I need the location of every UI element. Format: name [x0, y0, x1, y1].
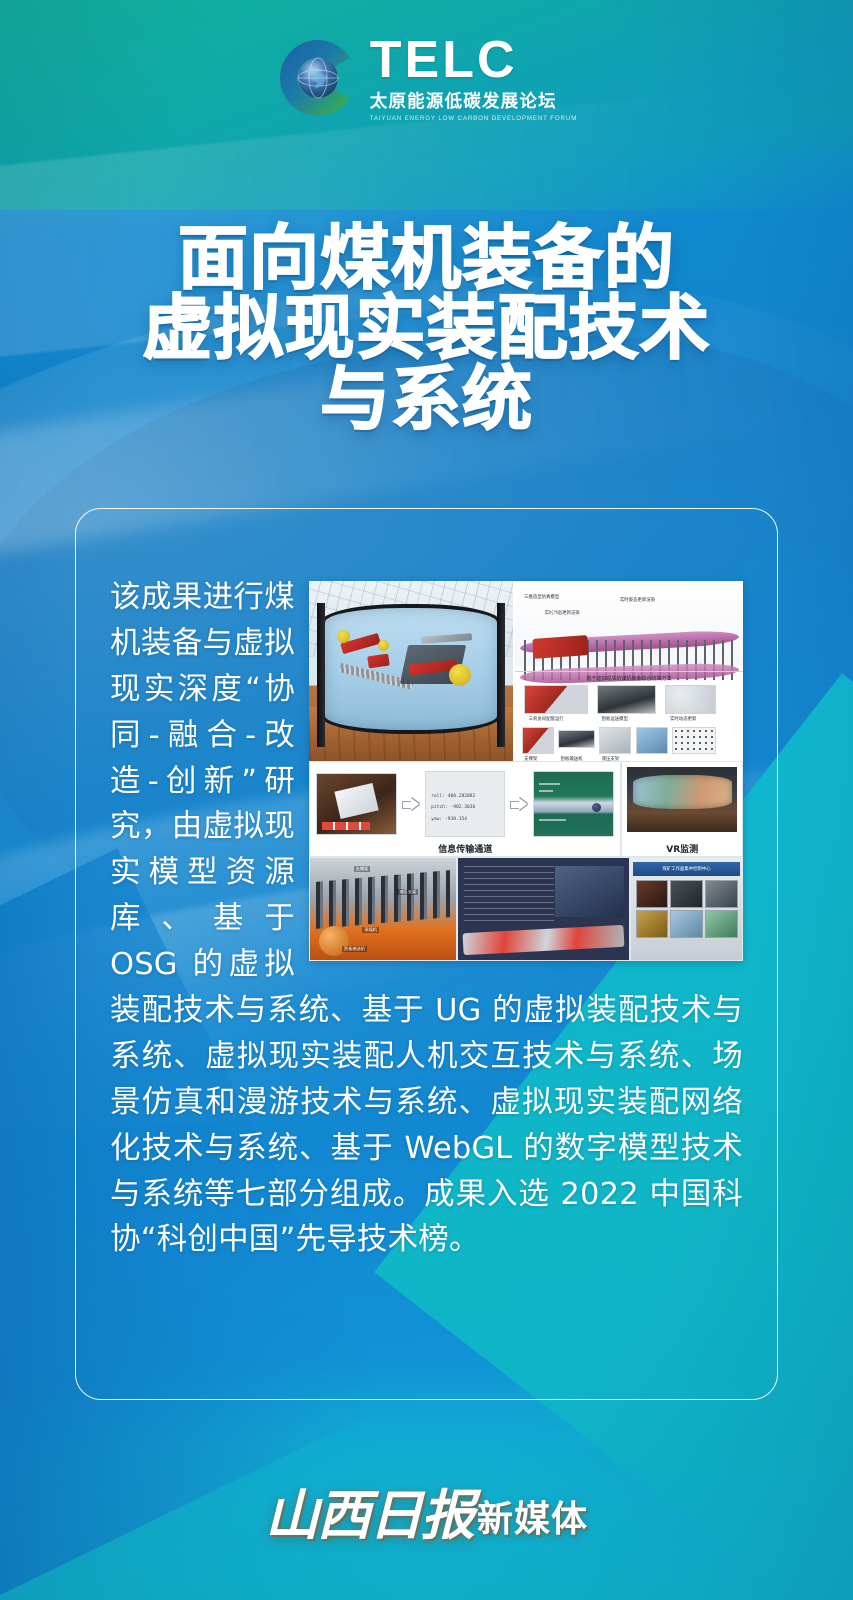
collage-row-middle: roll: 400.282882 pitch: -902.3036 yaw: -…: [309, 761, 743, 857]
pipeline-arrow-2: [510, 798, 528, 811]
pipeline-stage-data: roll: 400.282882 pitch: -902.3036 yaw: -…: [425, 771, 506, 837]
monitor-tile: [705, 910, 738, 938]
title-line-1: 面向煤机装备的: [0, 222, 853, 294]
pipeline-data-pitch: pitch: -902.3036: [431, 805, 475, 810]
pipeline-stages: roll: 400.282882 pitch: -902.3036 yaw: -…: [316, 768, 614, 840]
coal-machine-schematic-panel: 三维造型仿真模型 实时动态更新渲染 实时姿态更新渲染 基于虚拟现实的煤机装备综合…: [513, 581, 743, 761]
pipeline-caption: 信息传输通道: [310, 842, 620, 855]
schematic-label-m3: 实时动态更新: [670, 716, 696, 722]
hydraulic-support-photo: 支撑架 液压支架 采煤机 刮板输送机: [309, 857, 457, 961]
schematic-thumb-pointcloud: [636, 727, 668, 754]
schematic-thumb-rail: [558, 730, 594, 748]
monitor-tile: [636, 880, 669, 908]
pipeline-data-roll: roll: 400.282882: [431, 794, 475, 799]
logo-english-name: TAIYUAN ENERGY LOW CARBON DEVELOPMENT FO…: [370, 115, 577, 122]
dashboard-3d-view: [555, 866, 624, 917]
screen-post-left: [317, 603, 325, 747]
schematic-thumb-dots: [672, 727, 715, 754]
curved-vr-display-room-image: [309, 581, 513, 761]
control-center-monitor-grid: [636, 880, 738, 937]
vr-assembly-technology-collage: 三维造型仿真模型 实时动态更新渲染 实时姿态更新渲染 基于虚拟现实的煤机装备综合…: [309, 581, 743, 961]
model-shearer-part: [367, 653, 389, 668]
vr-monitoring-curved-screen: [633, 775, 732, 809]
schematic-divider: [515, 671, 743, 672]
logo-chinese-name: 太原能源低碳发展论坛: [370, 88, 577, 113]
pipeline-arrow-1: [402, 798, 420, 811]
schematic-thumb-coordination: [524, 685, 588, 714]
photo-label-f4: 采煤机: [362, 927, 379, 933]
schematic-thumb-mesh: [665, 685, 715, 714]
pipeline-stage-vr-view: [533, 771, 614, 837]
schematic-thumb-support: [522, 727, 554, 754]
footer-brand: 山西日报 新媒体: [0, 1488, 853, 1542]
schematic-thumb-hydraulic: [599, 727, 631, 754]
hydraulic-support-array: [316, 871, 450, 930]
vr-monitoring-caption: VR监测: [622, 842, 742, 855]
photo-label-f3: 液压支架: [397, 889, 418, 895]
photo-label-f2: 刮板输送机: [342, 946, 367, 952]
curved-screen: [321, 604, 500, 734]
capture-color-chips: [322, 822, 371, 830]
collage-row-bottom: 支撑架 液压支架 采煤机 刮板输送机 煤矿工作面集中控制: [309, 857, 743, 961]
pipeline-data-yaw: yaw: -938.154: [431, 817, 467, 822]
schematic-label-m2: 刮板运送模型: [602, 716, 628, 722]
photo-label-f1: 支撑架: [354, 866, 371, 872]
vr-view-drum: [592, 803, 601, 812]
collage-float-wrapper: 三维造型仿真模型 实时动态更新渲染 实时姿态更新渲染 基于虚拟现实的煤机装备综合…: [309, 581, 743, 961]
page-title: 面向煤机装备的 虚拟现实装配技术 与系统: [0, 222, 853, 435]
vr-monitoring-photo: [627, 767, 737, 833]
screen-post-right: [497, 603, 505, 747]
content-card-inner: 三维造型仿真模型 实时动态更新渲染 实时姿态更新渲染 基于虚拟现实的煤机装备综合…: [76, 509, 777, 1399]
logo-telc-text: TELC: [370, 36, 577, 86]
telc-c-globe-logo-icon: [276, 36, 360, 120]
vr-view-bar-3: [539, 819, 566, 821]
content-card: 三维造型仿真模型 实时动态更新渲染 实时姿态更新渲染 基于虚拟现实的煤机装备综合…: [75, 508, 778, 1400]
monitor-tile: [705, 880, 738, 908]
vr-monitoring-figure: VR监测: [621, 761, 743, 857]
vr-view-bar-2: [539, 790, 553, 792]
title-line-2: 虚拟现实装配技术: [0, 292, 853, 364]
title-line-3: 与系统: [0, 363, 853, 435]
schematic-mid-title: 基于虚拟现实的煤机装备综合仿真方法: [515, 675, 743, 682]
poster-root: TELC 太原能源低碳发展论坛 TAIYUAN ENERGY LOW CARBO…: [0, 0, 853, 1600]
monitor-tile: [670, 910, 703, 938]
schematic-label-m1: 三机协同配套运行: [529, 716, 564, 722]
control-center-photo: 煤矿工作面集中控制中心: [630, 857, 743, 961]
schematic-thumb-conveyor: [597, 685, 656, 714]
control-center-title: 煤矿工作面集中控制中心: [662, 866, 710, 872]
control-center-header: 煤矿工作面集中控制中心: [633, 862, 739, 876]
logo-wordmark: TELC 太原能源低碳发展论坛 TAIYUAN ENERGY LOW CARBO…: [370, 34, 577, 122]
schematic-label-top1: 三维造型仿真模型: [524, 594, 559, 600]
model-roof-beam: [421, 633, 473, 644]
collage-row-top: 三维造型仿真模型 实时动态更新渲染 实时姿态更新渲染 基于虚拟现实的煤机装备综合…: [309, 581, 743, 761]
dashboard-conveyor-model: [462, 925, 624, 956]
model-cutting-drum-mid: [378, 640, 389, 651]
capture-marker-board: [335, 783, 379, 819]
header-logo: TELC 太原能源低碳发展论坛 TAIYUAN ENERGY LOW CARBO…: [0, 34, 853, 122]
vr-view-bar-1: [539, 783, 560, 785]
monitoring-dashboard-photo: [457, 857, 631, 961]
information-transmission-channel-figure: roll: 400.282882 pitch: -902.3036 yaw: -…: [309, 761, 621, 857]
schematic-shearer: [533, 635, 589, 659]
pipeline-stage-capture: [316, 773, 397, 835]
monitor-tile: [670, 880, 703, 908]
schematic-label-top3: 实时姿态更新渲染: [620, 597, 655, 603]
dashboard-data-table: [464, 866, 553, 923]
footer-brand-script: 山西日报: [265, 1488, 473, 1542]
model-drum-right: [449, 664, 471, 686]
footer-brand-sub: 新媒体: [477, 1502, 588, 1542]
monitor-tile: [636, 910, 669, 938]
